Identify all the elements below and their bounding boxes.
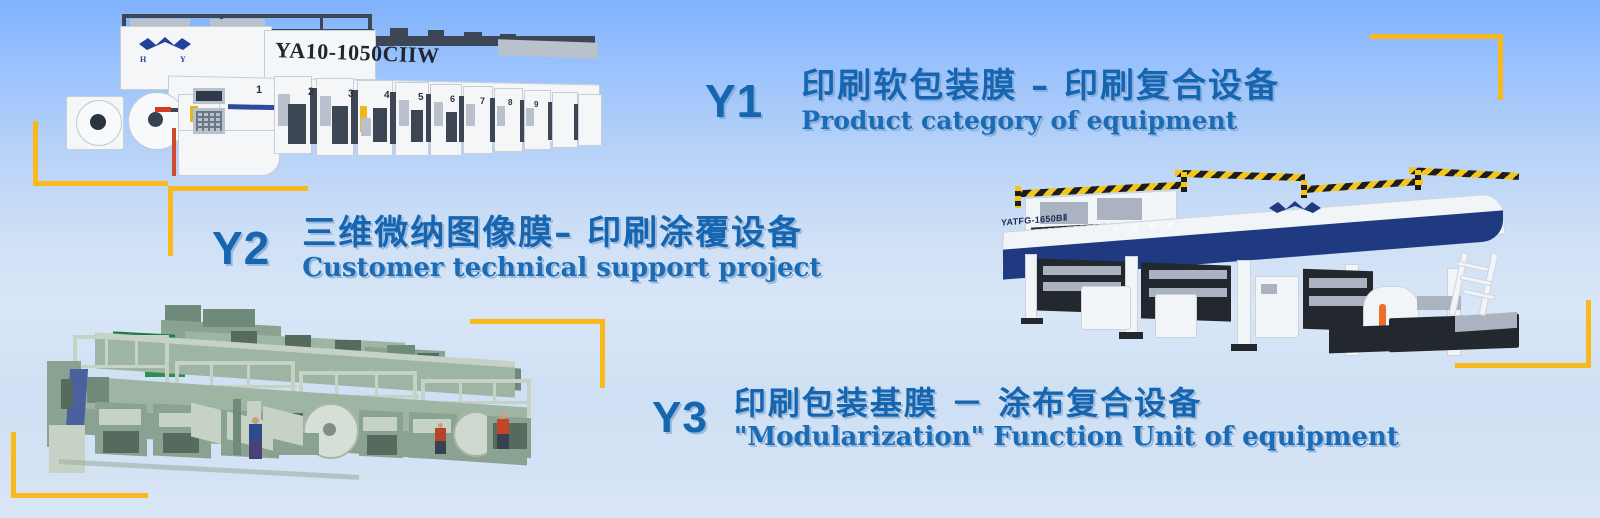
bracket-bottom-left-horizontal xyxy=(11,493,148,498)
entry-y2-title-en: Customer technical support project xyxy=(302,254,821,283)
worker-figure xyxy=(497,413,509,449)
entry-y1-code: Y1 xyxy=(705,74,763,128)
entry-y1: Y1 印刷软包装膜 – 印刷复合设备 Product category of e… xyxy=(705,66,1280,135)
worker-figure xyxy=(435,423,446,454)
entry-y3-code: Y3 xyxy=(652,393,708,443)
product-banner: H Y YA10-1050CIIW xyxy=(0,0,1600,518)
brand-logo-icon xyxy=(1267,200,1323,225)
bracket-top-left-horizontal xyxy=(33,181,168,186)
bracket-top-right-horizontal xyxy=(1370,34,1503,39)
machine-laminator: 中国制造 YATFG-1650BⅡ xyxy=(985,168,1530,358)
entry-y2-title-cn: 三维微纳图像膜– 印刷涂覆设备 xyxy=(302,213,821,253)
bracket-y2-horizontal xyxy=(168,186,308,191)
entry-y3-title-en: "Modularization" Function Unit of equipm… xyxy=(734,423,1399,452)
bracket-y3-horizontal xyxy=(470,319,605,324)
entry-y3: Y3 印刷包装基膜 － 涂布复合设备 "Modularization" Func… xyxy=(652,384,1399,452)
entry-y2-code: Y2 xyxy=(212,221,270,275)
entry-y1-title-en: Product category of equipment xyxy=(801,107,1280,135)
machine-coating-line xyxy=(35,305,570,480)
bracket-y3-vertical xyxy=(600,319,605,388)
bracket-right-horizontal xyxy=(1455,363,1591,368)
entry-y1-title-cn: 印刷软包装膜 – 印刷复合设备 xyxy=(801,66,1280,106)
bracket-right-vertical xyxy=(1586,300,1591,368)
entry-y3-title-cn: 印刷包装基膜 － 涂布复合设备 xyxy=(734,384,1399,422)
bracket-bottom-left-vertical xyxy=(11,432,16,498)
worker-figure xyxy=(249,417,262,459)
bracket-y2-vertical xyxy=(168,186,173,256)
bracket-top-left-vertical xyxy=(33,121,38,186)
entry-y2: Y2 三维微纳图像膜– 印刷涂覆设备 Customer technical su… xyxy=(212,213,821,283)
bracket-top-right-vertical xyxy=(1498,34,1503,100)
machine-printing-press: H Y YA10-1050CIIW xyxy=(60,8,605,173)
